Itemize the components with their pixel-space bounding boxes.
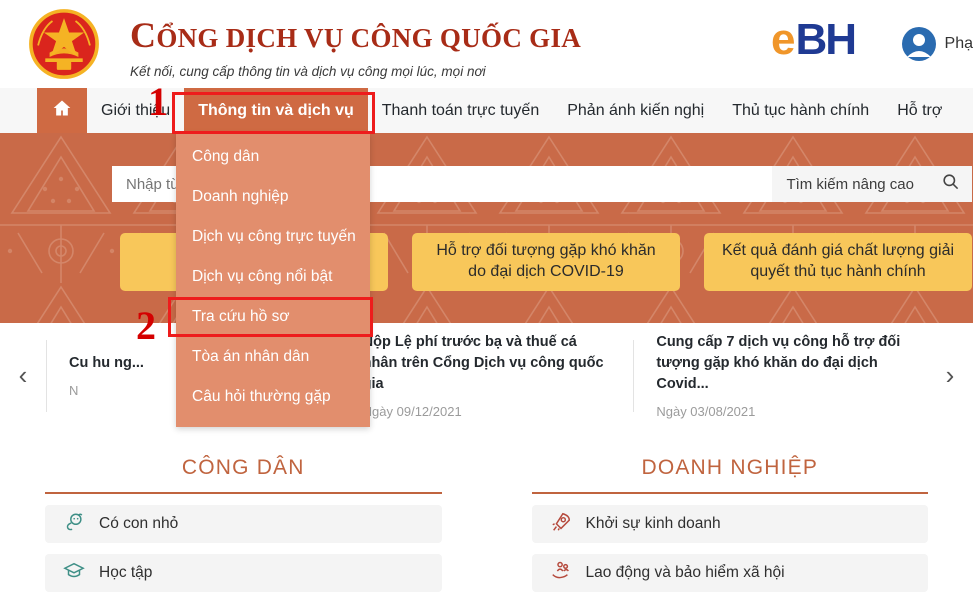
- hero-banner: Tìm kiếm nâng cao Dị Hỗ trợ đối tượng gặ…: [0, 133, 973, 428]
- service-panels: CÔNG DÂN Có con nhỏ: [0, 428, 973, 615]
- vietnam-national-emblem-icon: [28, 8, 100, 80]
- news-carousel: ‹ Cu hu ng... N Nộp Lệ phí trước bạ và t…: [0, 323, 973, 428]
- site-brand: CỔNG DỊCH VỤ CÔNG QUỐC GIA Kết nối, cung…: [130, 14, 581, 79]
- service-item-khoi-su-kinh-doanh[interactable]: Khởi sự kinh doanh: [532, 505, 929, 543]
- service-item-label: Học tập: [99, 564, 152, 582]
- search-button[interactable]: [928, 166, 972, 202]
- page-title: CỔNG DỊCH VỤ CÔNG QUỐC GIA: [130, 14, 581, 56]
- banner-button-quality-results[interactable]: Kết quả đánh giá chất lượng giải quyết t…: [704, 233, 972, 291]
- news-title: Nộp Lệ phí trước bạ và thuế cá nhân trên…: [363, 332, 612, 395]
- brand-subtitle: Kết nối, cung cấp thông tin và dịch vụ c…: [130, 64, 581, 79]
- people-hand-icon: [550, 560, 572, 587]
- nav-dropdown-menu: Công dân Doanh nghiệp Dịch vụ công trực …: [176, 133, 370, 427]
- panel-divider: [532, 492, 929, 494]
- panel-title: CÔNG DÂN: [45, 456, 442, 480]
- page-root: CỔNG DỊCH VỤ CÔNG QUỐC GIA Kết nối, cung…: [0, 0, 973, 615]
- news-date: Ngày 09/12/2021: [363, 404, 612, 419]
- dropdown-item-dich-vu-cong-truc-tuyen[interactable]: Dịch vụ công trực tuyến: [176, 217, 370, 257]
- panel-cong-dan: CÔNG DÂN Có con nhỏ: [0, 428, 487, 615]
- ebh-logo-e: e: [771, 15, 795, 64]
- banner-button-covid-support[interactable]: Hỗ trợ đối tượng gặp khó khăn do đại dịc…: [412, 233, 680, 291]
- brand-title-rest: ỔNG DỊCH VỤ CÔNG QUỐC GIA: [156, 23, 581, 53]
- baby-icon: [63, 511, 85, 538]
- user-account[interactable]: Phạ: [901, 26, 973, 62]
- dropdown-item-toa-an-nhan-dan[interactable]: Tòa án nhân dân: [176, 337, 370, 377]
- news-title: Cung cấp 7 dịch vụ công hỗ trợ đối tượng…: [656, 332, 905, 395]
- dropdown-item-cau-hoi-thuong-gap[interactable]: Câu hỏi thường gặp: [176, 377, 370, 417]
- site-header: CỔNG DỊCH VỤ CÔNG QUỐC GIA Kết nối, cung…: [0, 0, 973, 88]
- home-icon: [52, 98, 72, 123]
- service-item-hoc-tap[interactable]: Học tập: [45, 554, 442, 592]
- graduation-cap-icon: [63, 560, 85, 587]
- dropdown-item-dich-vu-cong-noi-bat[interactable]: Dịch vụ công nổi bật: [176, 257, 370, 297]
- ebh-logo[interactable]: eBH: [771, 18, 855, 66]
- nav-item-ho-tro[interactable]: Hỗ trợ: [883, 88, 956, 133]
- carousel-next-button[interactable]: ›: [927, 360, 973, 391]
- nav-item-gioi-thieu[interactable]: Giới thiệu: [87, 88, 184, 133]
- news-card[interactable]: Nộp Lệ phí trước bạ và thuế cá nhân trên…: [340, 340, 634, 412]
- panel-doanh-nghiep: DOANH NGHIỆP Khởi sự kinh doanh: [487, 428, 973, 615]
- news-date: Ngày 03/08/2021: [656, 404, 905, 419]
- panel-divider: [45, 492, 442, 494]
- service-item-co-con-nho[interactable]: Có con nhỏ: [45, 505, 442, 543]
- news-card[interactable]: Cung cấp 7 dịch vụ công hỗ trợ đối tượng…: [633, 340, 927, 412]
- rocket-icon: [550, 511, 572, 538]
- nav-item-thu-tuc-hanh-chinh[interactable]: Thủ tục hành chính: [718, 88, 883, 133]
- nav-home-button[interactable]: [37, 88, 87, 133]
- search-icon: [941, 172, 960, 196]
- main-navigation: Giới thiệu Thông tin và dịch vụ Thanh to…: [0, 88, 973, 133]
- dropdown-item-cong-dan[interactable]: Công dân: [176, 137, 370, 177]
- dropdown-item-tra-cuu-ho-so[interactable]: Tra cứu hồ sơ: [176, 297, 370, 337]
- advanced-search-link[interactable]: Tìm kiếm nâng cao: [772, 166, 928, 202]
- panel-title: DOANH NGHIỆP: [532, 456, 929, 480]
- carousel-prev-button[interactable]: ‹: [0, 360, 46, 391]
- service-item-lao-dong-bao-hiem[interactable]: Lao động và bảo hiểm xã hội: [532, 554, 929, 592]
- nav-item-thong-tin-va-dich-vu[interactable]: Thông tin và dịch vụ: [184, 88, 368, 133]
- user-name-label: Phạ: [945, 35, 973, 53]
- nav-item-phan-anh-kien-nghi[interactable]: Phản ánh kiến nghị: [553, 88, 718, 133]
- service-item-label: Lao động và bảo hiểm xã hội: [586, 564, 785, 582]
- brand-title-lead: C: [130, 15, 156, 55]
- service-item-label: Khởi sự kinh doanh: [586, 515, 721, 533]
- nav-item-thanh-toan-truc-tuyen[interactable]: Thanh toán trực tuyến: [368, 88, 553, 133]
- user-avatar-icon: [901, 26, 937, 62]
- service-item-label: Có con nhỏ: [99, 515, 178, 533]
- ebh-logo-bh: BH: [795, 15, 855, 64]
- dropdown-item-doanh-nghiep[interactable]: Doanh nghiệp: [176, 177, 370, 217]
